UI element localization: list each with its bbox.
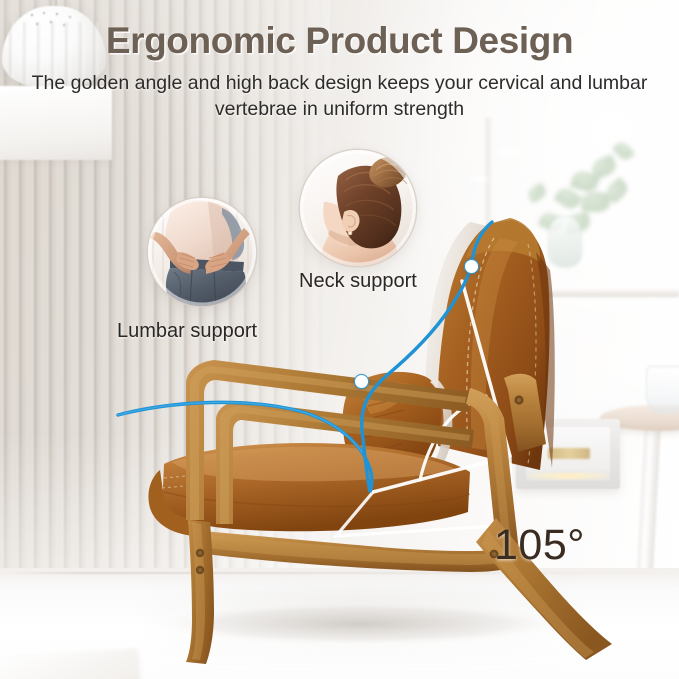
lumbar-marker-dot [354, 374, 369, 389]
neck-inset-photo [300, 150, 416, 266]
page-subtitle: The golden angle and high back design ke… [24, 70, 655, 122]
leg-bolt-inner [198, 551, 202, 555]
woman-holding-lower-back-photo [148, 198, 256, 306]
neck-marker-dot [464, 259, 479, 274]
product-marketing-image: Ergonomic Product Design The golden angl… [0, 0, 679, 679]
leg-bolt-inner [198, 568, 202, 572]
frame-bolt-inner [517, 398, 521, 402]
page-title: Ergonomic Product Design [0, 20, 679, 62]
angle-annotation: 105° [494, 521, 585, 570]
seat-stretcher-highlight [193, 534, 511, 565]
callout-label-lumbar: Lumbar support [117, 320, 257, 343]
lumbar-inset-photo [148, 198, 256, 306]
callout-label-neck: Neck support [299, 270, 417, 293]
woman-neck-back-of-head-photo [300, 150, 416, 266]
